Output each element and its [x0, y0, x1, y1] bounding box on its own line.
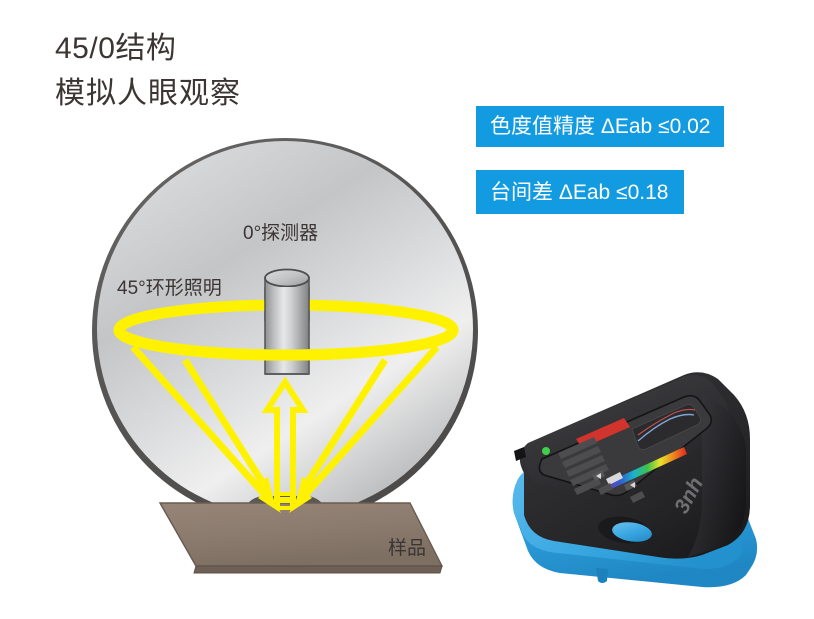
label-sample: 样品 — [388, 539, 426, 558]
badge-inter-instrument-agreement-label: 台间差 ΔEab ≤0.18 — [490, 182, 668, 203]
page-root: 45/0结构 模拟人眼观察 色度值精度 ΔEab ≤0.02 台间差 ΔEab … — [0, 0, 814, 619]
badge-chromaticity-accuracy: 色度值精度 ΔEab ≤0.02 — [476, 106, 724, 147]
status-led-icon — [542, 447, 550, 455]
spectrophotometer-device: 3nh — [488, 355, 814, 605]
badge-inter-instrument-agreement: 台间差 ΔEab ≤0.18 — [476, 170, 684, 214]
optical-geometry-diagram: 0°探测器 45°环形照明 样品 — [0, 0, 500, 619]
device-svg: 3nh — [488, 355, 814, 605]
label-detector: 0°探测器 — [243, 224, 318, 243]
label-ring-illumination: 45°环形照明 — [117, 279, 222, 298]
diagram-svg — [0, 0, 500, 619]
badge-chromaticity-accuracy-label: 色度值精度 ΔEab ≤0.02 — [490, 116, 710, 137]
cylinder-ring-occluder — [265, 287, 309, 321]
